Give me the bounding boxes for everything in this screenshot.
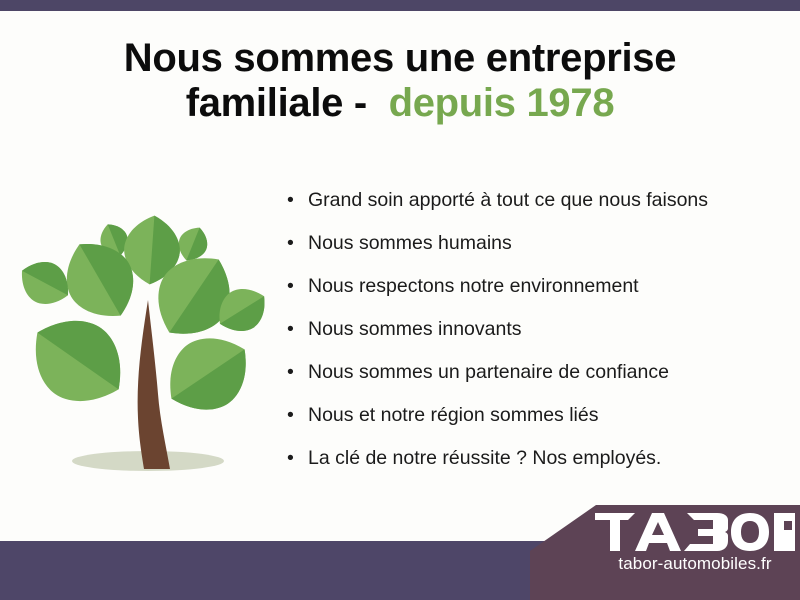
- list-item: •Nous et notre région sommes liés: [286, 405, 786, 426]
- tree-illustration: [18, 188, 274, 488]
- bullet-marker: •: [287, 319, 294, 340]
- slide-canvas: Nous sommes une entreprise familiale - d…: [0, 0, 800, 600]
- value-bullet-list: •Grand soin apporté à tout ce que nous f…: [286, 190, 786, 491]
- list-item-label: Nous sommes un partenaire de confiance: [308, 361, 669, 383]
- brand-logo[interactable]: tabor-automobiles.fr: [530, 505, 800, 600]
- list-item-label: Grand soin apporté à tout ce que nous fa…: [308, 189, 708, 211]
- list-item-label: La clé de notre réussite ? Nos employés.: [308, 447, 661, 469]
- page-title: Nous sommes une entreprise familiale - d…: [0, 36, 800, 126]
- list-item-label: Nous et notre région sommes liés: [308, 404, 598, 426]
- list-item-label: Nous sommes innovants: [308, 318, 522, 340]
- bullet-marker: •: [287, 362, 294, 383]
- tree-icon: [18, 188, 274, 488]
- list-item: •Nous sommes innovants: [286, 319, 786, 340]
- list-item: •La clé de notre réussite ? Nos employés…: [286, 448, 786, 469]
- list-item: •Nous respectons notre environnement: [286, 276, 786, 297]
- bullet-marker: •: [287, 448, 294, 469]
- bullet-marker: •: [287, 233, 294, 254]
- list-item: •Grand soin apporté à tout ce que nous f…: [286, 190, 786, 211]
- logo-tagline: tabor-automobiles.fr: [595, 554, 795, 574]
- bullet-marker: •: [287, 276, 294, 297]
- title-line-1: Nous sommes une entreprise: [0, 36, 800, 81]
- title-line-2-plain: familiale -: [186, 81, 367, 125]
- list-item: •Nous sommes un partenaire de confiance: [286, 362, 786, 383]
- bullet-marker: •: [287, 190, 294, 211]
- list-item: •Nous sommes humains: [286, 233, 786, 254]
- bullet-marker: •: [287, 405, 294, 426]
- list-item-label: Nous sommes humains: [308, 232, 512, 254]
- top-brand-bar: [0, 0, 800, 11]
- tabor-wordmark-icon: [595, 513, 795, 551]
- title-line-2-accent: depuis 1978: [389, 81, 615, 125]
- list-item-label: Nous respectons notre environnement: [308, 275, 639, 297]
- tree-trunk: [138, 300, 170, 469]
- title-line-2: familiale - depuis 1978: [0, 81, 800, 126]
